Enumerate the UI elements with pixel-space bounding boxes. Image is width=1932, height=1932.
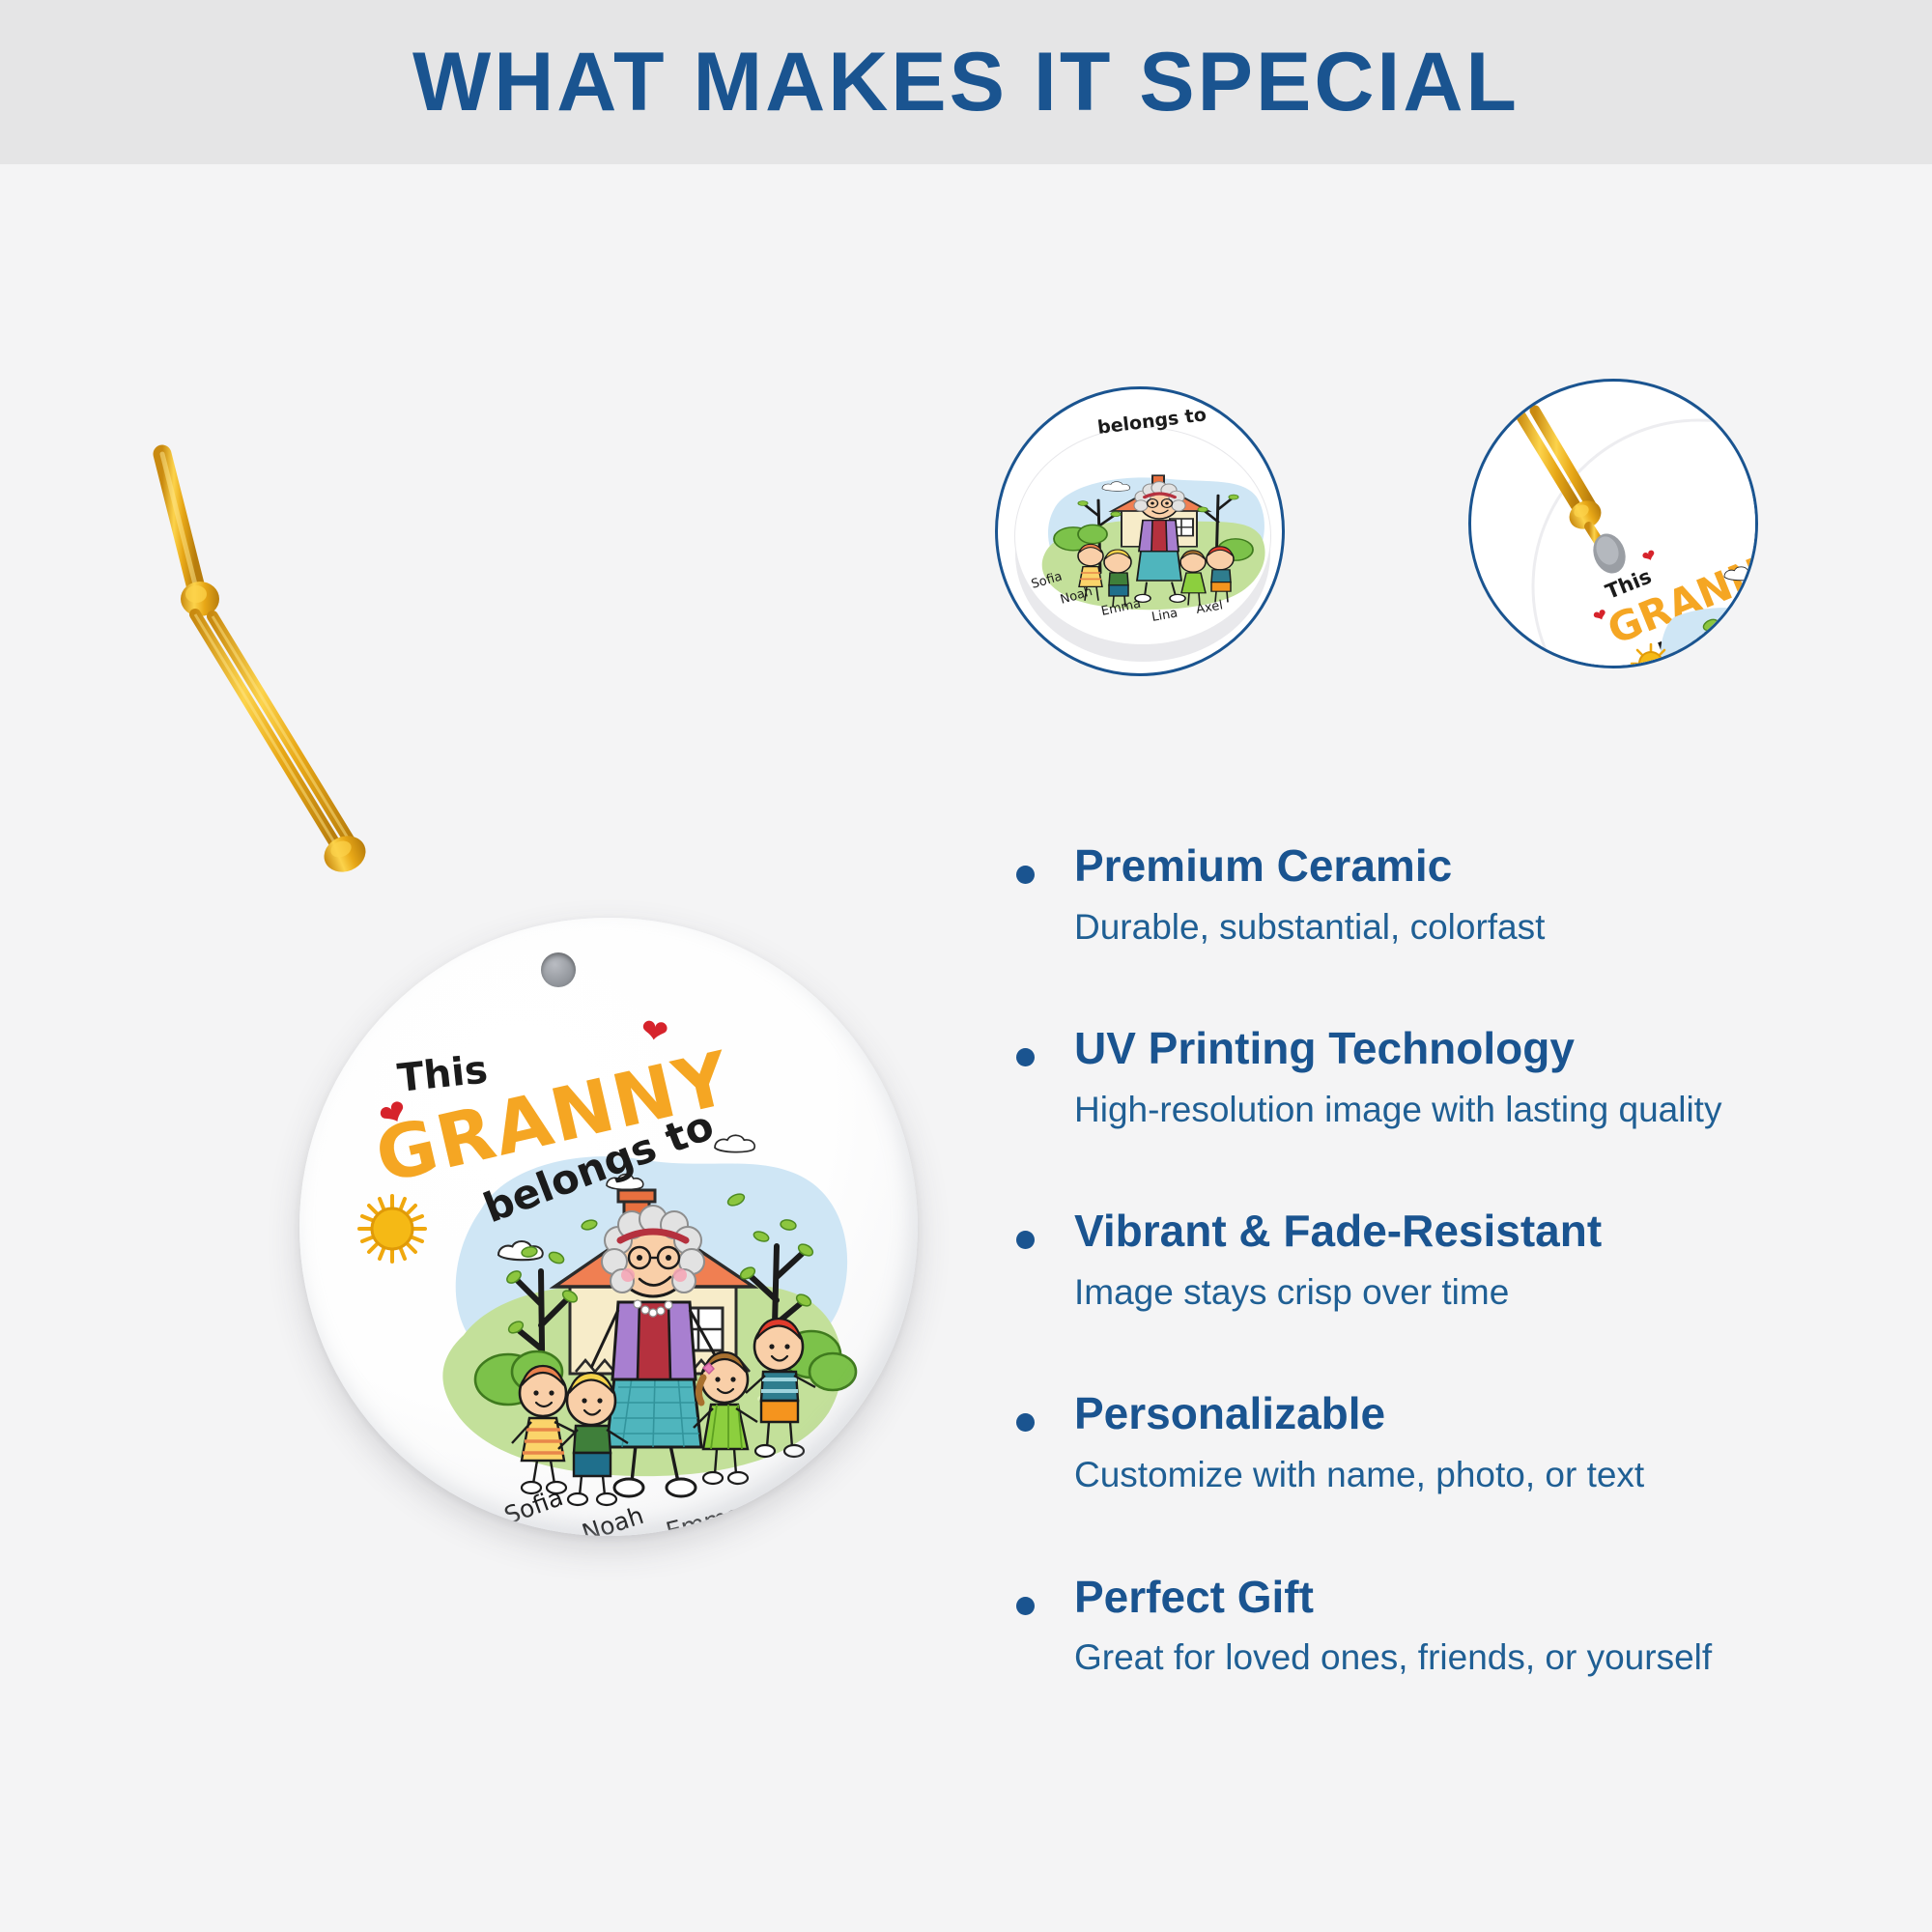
feature-description: Great for loved ones, friends, or yourse… (1074, 1635, 1903, 1680)
header-band: WHAT MAKES IT SPECIAL (0, 0, 1932, 164)
svg-text:Axel: Axel (827, 1448, 884, 1488)
bullet-icon (1016, 1413, 1035, 1432)
content-stage: Sofia Noah Emma Lina Axel ❤ ❤ This GRANN… (0, 164, 1932, 1932)
ornament-disc: Sofia Noah Emma Lina Axel ❤ ❤ This GRANN… (299, 918, 918, 1536)
feature-description: Image stays crisp over time (1074, 1270, 1903, 1315)
bullet-icon (1016, 1231, 1035, 1249)
feature-title: Personalizable (1074, 1388, 1903, 1439)
inset-angled-front-view: Sofia Noah Emma Lina Axel belongs to (995, 386, 1285, 676)
feature-title: Vibrant & Fade-Resistant (1074, 1206, 1903, 1257)
feature-title: Premium Ceramic (1074, 840, 1903, 892)
feature-description: High-resolution image with lasting quali… (1074, 1088, 1903, 1132)
feature-item-perfect-gift: Perfect Gift Great for loved ones, frien… (995, 1572, 1903, 1681)
feature-description: Durable, substantial, colorfast (1074, 905, 1903, 950)
feature-description: Customize with name, photo, or text (1074, 1453, 1903, 1497)
feature-title: Perfect Gift (1074, 1572, 1903, 1623)
ornament-hanging-hole (541, 952, 576, 987)
gold-cord-icon (145, 444, 551, 1024)
inset-cord-closeup-view: This GRANNY belongs to ❤ ❤ (1468, 379, 1758, 668)
feature-item-vibrant-fade-resistant: Vibrant & Fade-Resistant Image stays cri… (995, 1206, 1903, 1315)
page-title: WHAT MAKES IT SPECIAL (412, 35, 1520, 130)
feature-item-premium-ceramic: Premium Ceramic Durable, substantial, co… (995, 840, 1903, 950)
bullet-icon (1016, 1597, 1035, 1615)
feature-list: Premium Ceramic Durable, substantial, co… (995, 840, 1903, 1681)
bullet-icon (1016, 1048, 1035, 1066)
bullet-icon (1016, 866, 1035, 884)
ornament-rim (299, 918, 918, 1536)
feature-item-personalizable: Personalizable Customize with name, phot… (995, 1388, 1903, 1497)
feature-title: UV Printing Technology (1074, 1023, 1903, 1074)
main-product-image: Sofia Noah Emma Lina Axel ❤ ❤ This GRANN… (145, 444, 937, 1652)
feature-item-uv-printing-technology: UV Printing Technology High-resolution i… (995, 1023, 1903, 1132)
